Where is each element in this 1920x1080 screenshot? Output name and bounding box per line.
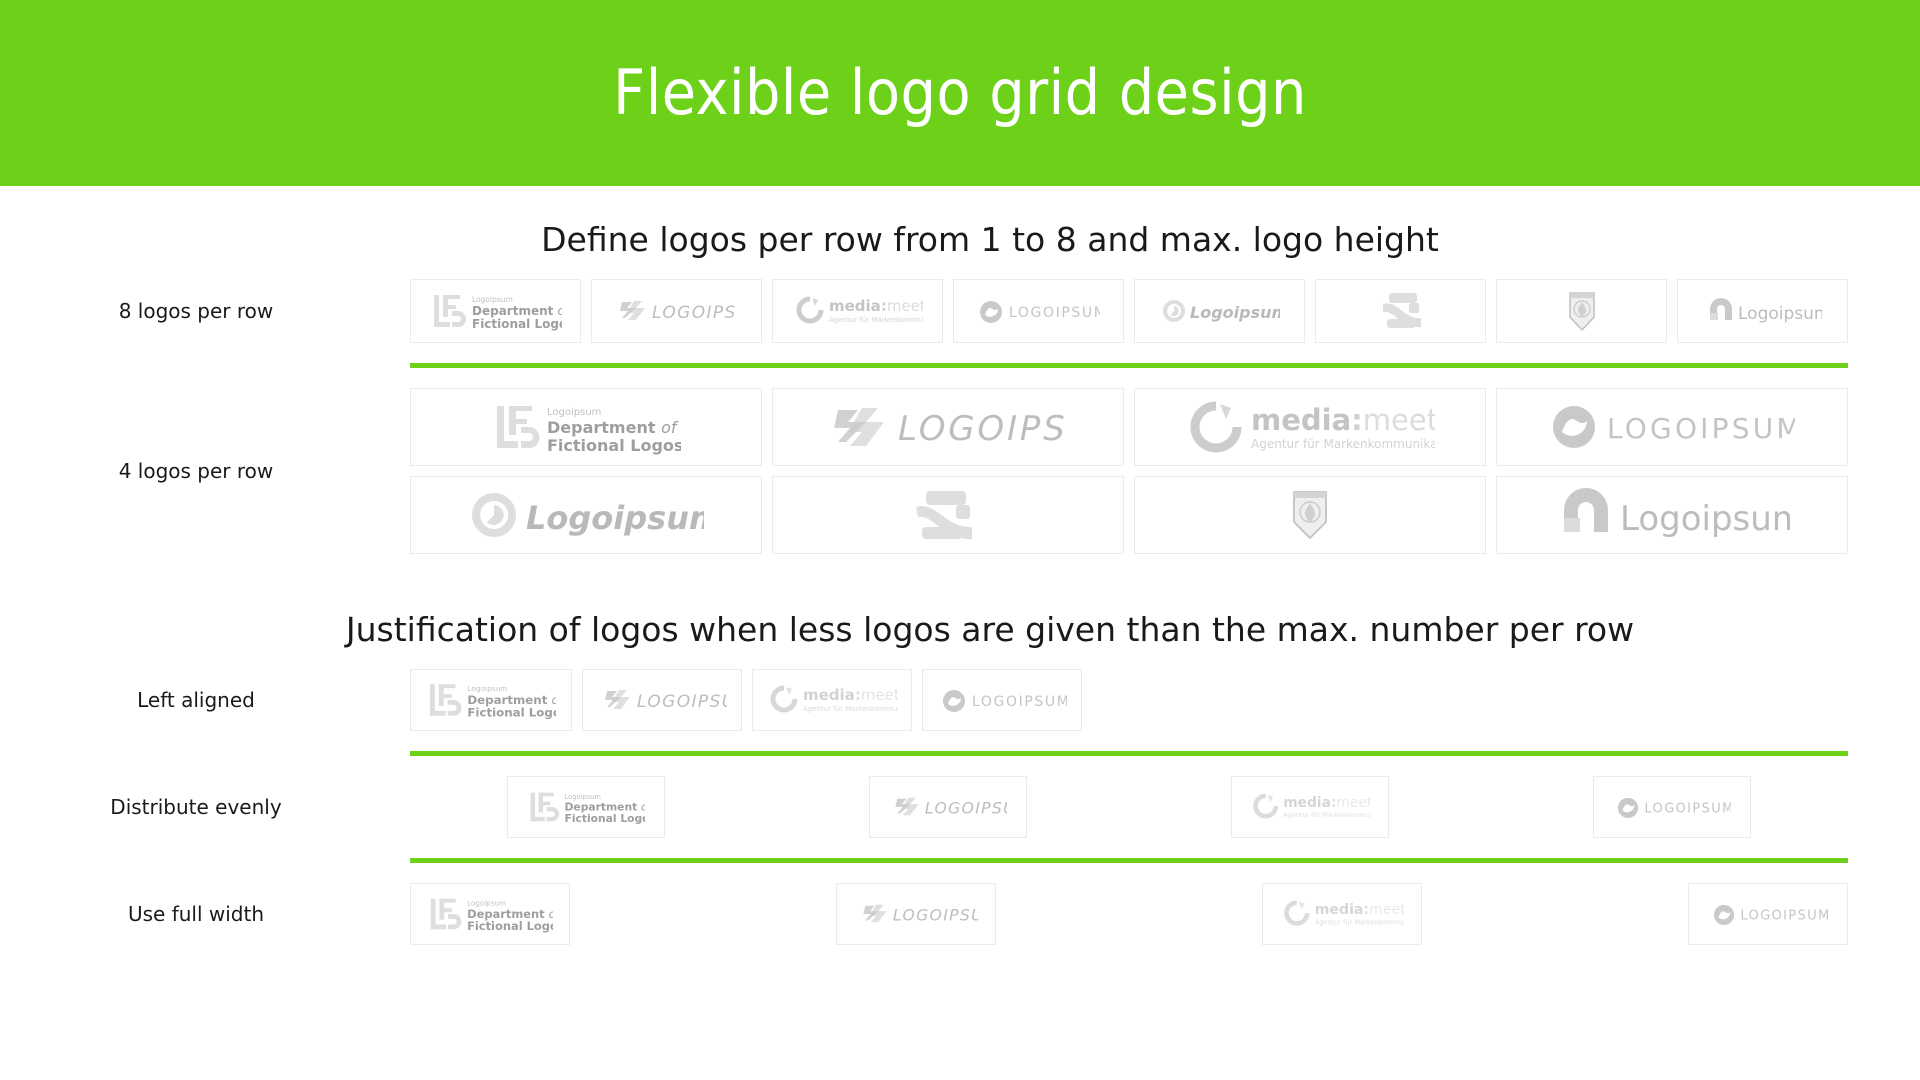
logoipsum-petals-icon: LOGOIPSUM xyxy=(854,902,978,926)
logo-tile[interactable] xyxy=(772,476,1124,554)
logo-tile[interactable]: media:meets Agentur für Markenkommunikat… xyxy=(1134,388,1486,466)
svg-text:Fictional Logos: Fictional Logos xyxy=(472,317,562,331)
logo-tile[interactable]: LOGOIPSUM xyxy=(1688,883,1848,945)
svg-text:Fictional Logos: Fictional Logos xyxy=(565,812,645,825)
logo-tile[interactable]: media:meets Agentur für Markenkommunikat… xyxy=(1231,776,1389,838)
svg-text:LOGOIPSUM: LOGOIPSUM xyxy=(1009,305,1100,321)
logo-tile[interactable]: media:meets Agentur für Markenkommunikat… xyxy=(752,669,912,731)
logo-tile[interactable]: Logoipsum Department of Fictional Logos xyxy=(410,388,762,466)
svg-text:Logoipsum: Logoipsum xyxy=(467,684,507,693)
logo-tile[interactable]: Logoipsum xyxy=(410,476,762,554)
fictional-logos-icon: Logoipsum Department of Fictional Logos xyxy=(430,289,562,333)
logo-tile[interactable]: media:meets Agentur für Markenkommunikat… xyxy=(1262,883,1422,945)
abstract-slab-icon xyxy=(898,487,998,543)
logo-tile[interactable]: LOGOIPSUM xyxy=(953,279,1124,343)
logoipsum-arc-icon: Logoipsum xyxy=(1704,296,1822,326)
svg-text:media:meets: media:meets xyxy=(1251,403,1435,437)
svg-text:Logoipsum: Logoipsum xyxy=(526,499,704,537)
logo-tile[interactable]: Logoipsum xyxy=(1677,279,1848,343)
svg-text:Department of: Department of xyxy=(547,418,679,437)
row-label-distribute-evenly: Distribute evenly xyxy=(0,795,410,819)
svg-text:LOGOIPSUM: LOGOIPSUM xyxy=(652,303,736,323)
svg-text:Fictional Logos: Fictional Logos xyxy=(547,436,681,455)
svg-text:Agentur für Markenkommunikatio: Agentur für Markenkommunikation xyxy=(1315,918,1404,926)
logo-tile[interactable]: LOGOIPSUM xyxy=(869,776,1027,838)
svg-text:LOGOIPSUM: LOGOIPSUM xyxy=(925,798,1007,817)
logo-grid-between: Logoipsum Department of Fictional Logos … xyxy=(410,883,1848,945)
svg-text:Department of: Department of xyxy=(472,304,562,318)
row-label-4-logos: 4 logos per row xyxy=(0,459,410,483)
svg-text:LOGOIPSUM: LOGOIPSUM xyxy=(1607,412,1795,445)
media-meets-ring-icon: media:meets Agentur für Markenkommunikat… xyxy=(793,294,923,328)
logoipsum-petals-icon: LOGOIPSUM xyxy=(889,795,1007,819)
logo-tile[interactable]: LOGOIPSUM xyxy=(836,883,996,945)
logo-tile[interactable]: media:meets Agentur für Markenkommunikat… xyxy=(772,279,943,343)
svg-text:LOGOIPSUM: LOGOIPSUM xyxy=(637,692,727,712)
svg-text:LOGOIPSUM: LOGOIPSUM xyxy=(1741,909,1831,924)
fictional-logos-icon: Logoipsum Department of Fictional Logos xyxy=(426,678,556,722)
svg-text:LOGOIPSUM: LOGOIPSUM xyxy=(893,905,978,924)
logo-tile[interactable]: Logoipsum Department of Fictional Logos xyxy=(410,279,581,343)
logo-grid-4-line-2: Logoipsum xyxy=(410,476,1848,554)
logo-tile[interactable]: LOGOIPSUM xyxy=(591,279,762,343)
logoipsum-petals-icon: LOGOIPSUM xyxy=(830,402,1066,452)
row-content-distribute-evenly: Logoipsum Department of Fictional Logos … xyxy=(410,776,1920,838)
logo-grid-even: Logoipsum Department of Fictional Logos … xyxy=(410,776,1848,838)
row-label-use-full-width: Use full width xyxy=(0,902,410,926)
logoipsum-arc-icon: Logoipsum xyxy=(1554,486,1790,544)
logo-tile[interactable]: LOGOIPSUM xyxy=(922,669,1082,731)
svg-text:media:meets: media:meets xyxy=(829,297,923,315)
svg-text:Logoipsum: Logoipsum xyxy=(1620,499,1790,539)
logo-tile[interactable] xyxy=(1134,476,1486,554)
logo-tile[interactable]: LOGOIPSUM xyxy=(1496,388,1848,466)
logo-tile[interactable]: LOGOIPSUM xyxy=(772,388,1124,466)
svg-text:media:meets: media:meets xyxy=(1283,795,1370,811)
row-8-logos-per-row: 8 logos per row Logoipsum Department of … xyxy=(0,279,1920,343)
logoipsum-spiral-icon: Logoipsum xyxy=(1160,297,1280,325)
row-left-aligned: Left aligned Logoipsum Department of Fic… xyxy=(0,669,1920,731)
logoipsum-spiral-icon: Logoipsum xyxy=(468,489,704,541)
page-title: Flexible logo grid design xyxy=(613,62,1307,124)
svg-text:Agentur für Markenkommunikatio: Agentur für Markenkommunikation xyxy=(1283,811,1370,819)
row-content-4-logos: Logoipsum Department of Fictional Logos … xyxy=(410,388,1920,554)
svg-text:Fictional Logos: Fictional Logos xyxy=(467,706,556,720)
media-meets-ring-icon: media:meets Agentur für Markenkommunikat… xyxy=(1250,791,1370,823)
logo-tile[interactable] xyxy=(1315,279,1486,343)
svg-text:LOGOIPSUM: LOGOIPSUM xyxy=(972,694,1067,710)
media-meets-ring-icon: media:meets Agentur für Markenkommunikat… xyxy=(1280,898,1404,930)
svg-text:Logoipsum: Logoipsum xyxy=(1190,303,1280,322)
fictional-logos-icon: Logoipsum Department of Fictional Logos xyxy=(527,786,645,828)
logoipsum-swirl-icon: LOGOIPSUM xyxy=(1613,796,1731,818)
logo-tile[interactable]: Logoipsum xyxy=(1496,476,1848,554)
logo-tile[interactable]: Logoipsum Department of Fictional Logos xyxy=(410,669,572,731)
logoipsum-petals-icon: LOGOIPSUM xyxy=(618,298,736,324)
logoipsum-swirl-icon: LOGOIPSUM xyxy=(1706,903,1830,925)
row-content-use-full-width: Logoipsum Department of Fictional Logos … xyxy=(410,883,1920,945)
svg-text:media:meets: media:meets xyxy=(1315,902,1404,918)
abstract-slab-icon xyxy=(1371,290,1431,332)
svg-text:media:meets: media:meets xyxy=(803,686,898,704)
logo-tile[interactable]: LOGOIPSUM xyxy=(582,669,742,731)
logoipsum-swirl-icon: LOGOIPSUM xyxy=(978,299,1100,323)
logoipsum-swirl-icon: LOGOIPSUM xyxy=(1549,404,1795,450)
row-4-logos-per-row: 4 logos per row Logoipsum Department of … xyxy=(0,388,1920,554)
section-title-rows-per-row: Define logos per row from 1 to 8 and max… xyxy=(0,220,1920,259)
page-header: Flexible logo grid design xyxy=(0,0,1920,186)
logoipsum-petals-icon: LOGOIPSUM xyxy=(597,687,727,713)
svg-text:LOGOIPSUM: LOGOIPSUM xyxy=(898,409,1066,449)
fictional-logos-icon: Logoipsum Department of Fictional Logos xyxy=(491,398,681,456)
svg-text:Logoipsum: Logoipsum xyxy=(547,407,601,418)
svg-text:Logoipsum: Logoipsum xyxy=(1738,304,1822,324)
crest-shield-icon xyxy=(1562,287,1602,335)
logo-grid-4-line-1: Logoipsum Department of Fictional Logos … xyxy=(410,388,1848,466)
logoipsum-swirl-icon: LOGOIPSUM xyxy=(937,688,1067,712)
crest-shield-icon xyxy=(1284,485,1336,545)
svg-text:Agentur für Markenkommunikatio: Agentur für Markenkommunikation xyxy=(1251,437,1435,451)
fictional-logos-icon: Logoipsum Department of Fictional Logos xyxy=(427,893,553,935)
logo-tile[interactable]: LOGOIPSUM xyxy=(1593,776,1751,838)
logo-grid-8: Logoipsum Department of Fictional Logos … xyxy=(410,279,1848,343)
row-distribute-evenly: Distribute evenly Logoipsum Department o… xyxy=(0,776,1920,838)
svg-text:Agentur für Markenkommunikatio: Agentur für Markenkommunikation xyxy=(829,316,923,324)
logo-tile[interactable] xyxy=(1496,279,1667,343)
svg-text:Logoipsum: Logoipsum xyxy=(472,295,513,304)
row-use-full-width: Use full width Logoipsum Department of F… xyxy=(0,883,1920,945)
svg-text:LOGOIPSUM: LOGOIPSUM xyxy=(1645,802,1732,817)
logo-tile[interactable]: Logoipsum Department of Fictional Logos xyxy=(410,883,570,945)
svg-text:Fictional Logos: Fictional Logos xyxy=(467,919,553,933)
section-title-justification: Justification of logos when less logos a… xyxy=(0,610,1920,649)
logo-tile[interactable]: Logoipsum Department of Fictional Logos xyxy=(507,776,665,838)
media-meets-ring-icon: media:meets Agentur für Markenkommunikat… xyxy=(766,683,898,717)
row-label-8-logos: 8 logos per row xyxy=(0,299,410,323)
row-content-8-logos: Logoipsum Department of Fictional Logos … xyxy=(410,279,1920,343)
logo-tile[interactable]: Logoipsum xyxy=(1134,279,1305,343)
media-meets-ring-icon: media:meets Agentur für Markenkommunikat… xyxy=(1185,396,1435,458)
logo-grid-left: Logoipsum Department of Fictional Logos … xyxy=(410,669,1848,731)
svg-text:Agentur für Markenkommunikatio: Agentur für Markenkommunikation xyxy=(803,705,898,713)
row-label-left-aligned: Left aligned xyxy=(0,688,410,712)
row-content-left-aligned: Logoipsum Department of Fictional Logos … xyxy=(410,669,1920,731)
